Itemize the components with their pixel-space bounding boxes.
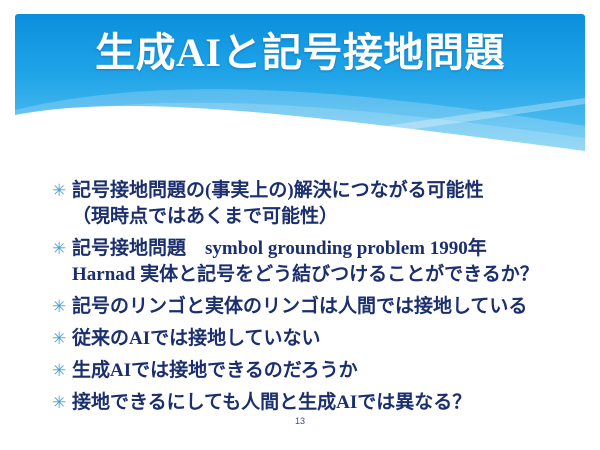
list-item-text: 記号のリンゴと実体のリンゴは人間では接地している xyxy=(72,294,572,320)
list-item-text: 接地できるにしても人間と生成AIでは異なる？ xyxy=(72,390,572,416)
list-item: ✳ 記号接地問題 symbol grounding problem 1990年 … xyxy=(52,236,572,288)
page-number: 13 xyxy=(0,416,600,426)
list-item-line: 記号接地問題 symbol grounding problem 1990年 xyxy=(72,238,487,259)
list-item: ✳ 記号接地問題の(事実上の)解決につながる可能性 （現時点ではあくまで可能性） xyxy=(52,178,572,230)
slide-canvas: 生成AIと記号接地問題 ✳ 記号接地問題の(事実上の)解決につながる可能性 （現… xyxy=(0,0,600,450)
list-item-text: 従来のAIでは接地していない xyxy=(72,326,572,352)
list-item: ✳ 生成AIでは接地できるのだろうか xyxy=(52,358,572,384)
list-item-text: 記号接地問題の(事実上の)解決につながる可能性 （現時点ではあくまで可能性） xyxy=(72,178,572,230)
list-item-line: （現時点ではあくまで可能性） xyxy=(72,204,572,230)
list-item: ✳ 従来のAIでは接地していない xyxy=(52,326,572,352)
asterisk-bullet-icon: ✳ xyxy=(52,326,72,352)
asterisk-bullet-icon: ✳ xyxy=(52,236,72,262)
asterisk-bullet-icon: ✳ xyxy=(52,178,72,204)
list-item-text: 記号接地問題 symbol grounding problem 1990年 Ha… xyxy=(72,236,572,288)
list-item-line: 記号接地問題の(事実上の)解決につながる可能性 xyxy=(72,180,484,201)
list-item: ✳ 記号のリンゴと実体のリンゴは人間では接地している xyxy=(52,294,572,320)
list-item: ✳ 接地できるにしても人間と生成AIでは異なる？ xyxy=(52,390,572,416)
bullet-list: ✳ 記号接地問題の(事実上の)解決につながる可能性 （現時点ではあくまで可能性）… xyxy=(52,178,572,422)
asterisk-bullet-icon: ✳ xyxy=(52,390,72,416)
asterisk-bullet-icon: ✳ xyxy=(52,294,72,320)
page-title: 生成AIと記号接地問題 xyxy=(15,30,585,76)
asterisk-bullet-icon: ✳ xyxy=(52,358,72,384)
list-item-text: 生成AIでは接地できるのだろうか xyxy=(72,358,572,384)
list-item-line: Harnad 実体と記号をどう結びつけることができるか？ xyxy=(72,262,572,288)
